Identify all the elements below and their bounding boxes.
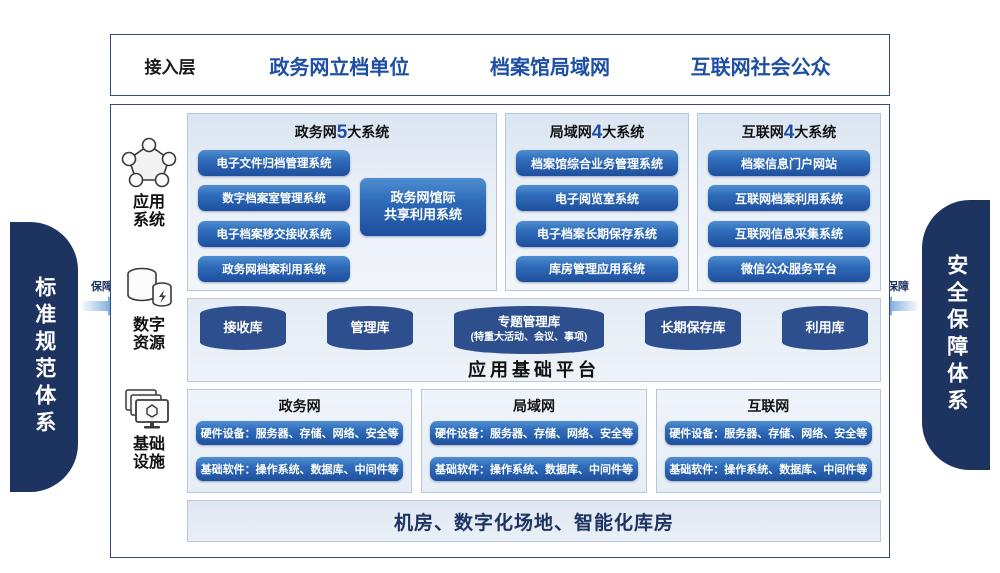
rail-item-infrastructure: 基础 设施 [111,385,187,472]
infra-panel-internet: 互联网 硬件设备：服务器、存储、网络、安全等 基础软件：操作系统、数据库、中间件… [656,389,881,493]
title-suffix: 大系统 [602,124,644,140]
title-prefix: 政务网 [295,124,337,140]
internet-system-4[interactable]: 微信公众服务平台 [708,256,870,282]
panel-internet-title: 互联网4大系统 [708,122,870,144]
infra-title-lan: 局域网 [430,396,637,416]
infra-title-internet: 互联网 [665,396,872,416]
db-receiving[interactable]: 接收库 [200,306,286,350]
internet-system-list: 档案信息门户网站 互联网档案利用系统 互联网信息采集系统 微信公众服务平台 [708,150,870,282]
servers-monitor-icon [121,385,177,431]
rail-label-line1: 数字 [133,317,165,334]
shared-line2: 共享利用系统 [384,207,462,224]
access-item-internet-public[interactable]: 互联网社会公众 [691,51,831,80]
lan-system-2[interactable]: 电子阅览室系统 [516,185,678,211]
internet-system-1[interactable]: 档案信息门户网站 [708,150,870,176]
title-prefix: 互联网 [742,124,784,140]
lan-system-3[interactable]: 电子档案长期保存系统 [516,221,678,247]
gov-system-1[interactable]: 电子文件归档管理系统 [198,150,350,176]
title-number: 4 [784,122,795,143]
infra-internet-hardware[interactable]: 硬件设备：服务器、存储、网络、安全等 [665,421,872,445]
panel-gov-net-title: 政务网5大系统 [198,122,486,144]
infra-gov-hardware[interactable]: 硬件设备：服务器、存储、网络、安全等 [196,421,403,445]
db-utilization[interactable]: 利用库 [782,306,868,350]
db-thematic[interactable]: 专题管理库 (特重大活动、会议、事项) [454,306,604,354]
panel-lan-systems: 局域网4大系统 档案馆综合业务管理系统 电子阅览室系统 电子档案长期保存系统 库… [505,113,689,291]
db-thematic-name: 专题管理库 [498,315,561,329]
architecture-main-frame: 应用 系统 数字 资源 [110,104,890,558]
left-vertical-banner: 标准规范体系 [10,222,78,492]
gov-system-2[interactable]: 数字档案室管理系统 [198,185,350,211]
lan-system-1[interactable]: 档案馆综合业务管理系统 [516,150,678,176]
rail-label-digital-resources: 数字 资源 [133,317,165,353]
title-number: 4 [592,122,603,143]
panel-gov-net-systems: 政务网5大系统 电子文件归档管理系统 数字档案室管理系统 电子档案移交接收系统 … [187,113,497,291]
left-banner-text: 标准规范体系 [31,276,57,438]
infra-lan-software[interactable]: 基础软件：操作系统、数据库、中间件等 [430,457,637,481]
rail-label-line2: 资源 [133,335,165,352]
platform-title: 应用基础平台 [200,356,868,382]
gov-system-3[interactable]: 电子档案移交接收系统 [198,221,350,247]
db-management[interactable]: 管理库 [327,306,413,350]
pentagon-network-icon [121,135,177,189]
gov-net-shared-system-wrap: 政务网馆际 共享利用系统 [360,150,486,282]
access-layer-title: 接入层 [111,53,229,78]
rail-item-application-systems: 应用 系统 [111,135,187,230]
rail-label-line1: 应用 [133,194,165,211]
rail-label-line1: 基础 [133,436,165,453]
access-layer-items: 政务网立档单位 档案馆局域网 互联网社会公众 [229,51,889,80]
panel-lan-title: 局域网4大系统 [516,122,678,144]
access-item-archive-lan[interactable]: 档案馆局域网 [490,51,610,80]
infra-gov-software[interactable]: 基础软件：操作系统、数据库、中间件等 [196,457,403,481]
db-thematic-sub: (特重大活动、会议、事项) [471,332,588,345]
infra-panel-lan: 局域网 硬件设备：服务器、存储、网络、安全等 基础软件：操作系统、数据库、中间件… [421,389,646,493]
right-vertical-banner: 安全保障体系 [922,200,990,470]
rail-label-application-systems: 应用 系统 [133,194,165,230]
application-base-platform: 接收库 管理库 专题管理库 (特重大活动、会议、事项) 长期保存库 利用库 应用… [187,298,881,382]
title-suffix: 大系统 [794,124,836,140]
panel-internet-systems: 互联网4大系统 档案信息门户网站 互联网档案利用系统 互联网信息采集系统 微信公… [697,113,881,291]
gov-net-system-list: 电子文件归档管理系统 数字档案室管理系统 电子档案移交接收系统 政务网档案利用系… [198,150,350,282]
title-prefix: 局域网 [550,124,592,140]
access-layer: 接入层 政务网立档单位 档案馆局域网 互联网社会公众 [110,34,890,96]
infra-panel-gov-net: 政务网 硬件设备：服务器、存储、网络、安全等 基础软件：操作系统、数据库、中间件… [187,389,412,493]
rail-label-line2: 设施 [133,454,165,471]
rail-label-infrastructure: 基础 设施 [133,436,165,472]
infra-title-gov-net: 政务网 [196,396,403,416]
db-long-term[interactable]: 长期保存库 [645,306,741,350]
infra-internet-software[interactable]: 基础软件：操作系统、数据库、中间件等 [665,457,872,481]
title-number: 5 [337,122,348,143]
gov-net-body: 电子文件归档管理系统 数字档案室管理系统 电子档案移交接收系统 政务网档案利用系… [198,150,486,282]
facilities-bar: 机房、数字化场地、智能化库房 [187,500,881,542]
access-item-gov-net[interactable]: 政务网立档单位 [269,51,409,80]
lan-system-list: 档案馆综合业务管理系统 电子阅览室系统 电子档案长期保存系统 库房管理应用系统 [516,150,678,282]
infra-lan-hardware[interactable]: 硬件设备：服务器、存储、网络、安全等 [430,421,637,445]
database-icon [121,264,177,312]
infrastructure-row: 政务网 硬件设备：服务器、存储、网络、安全等 基础软件：操作系统、数据库、中间件… [187,389,881,493]
internet-system-2[interactable]: 互联网档案利用系统 [708,185,870,211]
rail-label-line2: 系统 [133,212,165,229]
shared-line1: 政务网馆际 [390,190,455,207]
gov-shared-use-system[interactable]: 政务网馆际 共享利用系统 [360,178,486,236]
right-banner-text: 安全保障体系 [943,254,969,416]
layer-rail: 应用 系统 数字 资源 [111,105,187,557]
application-systems-row: 政务网5大系统 电子文件归档管理系统 数字档案室管理系统 电子档案移交接收系统 … [187,113,881,291]
gov-system-4[interactable]: 政务网档案利用系统 [198,256,350,282]
content-column: 政务网5大系统 电子文件归档管理系统 数字档案室管理系统 电子档案移交接收系统 … [187,105,889,557]
lan-system-4[interactable]: 库房管理应用系统 [516,256,678,282]
title-suffix: 大系统 [347,124,389,140]
database-row: 接收库 管理库 专题管理库 (特重大活动、会议、事项) 长期保存库 利用库 [200,306,868,354]
rail-item-digital-resources: 数字 资源 [111,264,187,353]
internet-system-3[interactable]: 互联网信息采集系统 [708,221,870,247]
